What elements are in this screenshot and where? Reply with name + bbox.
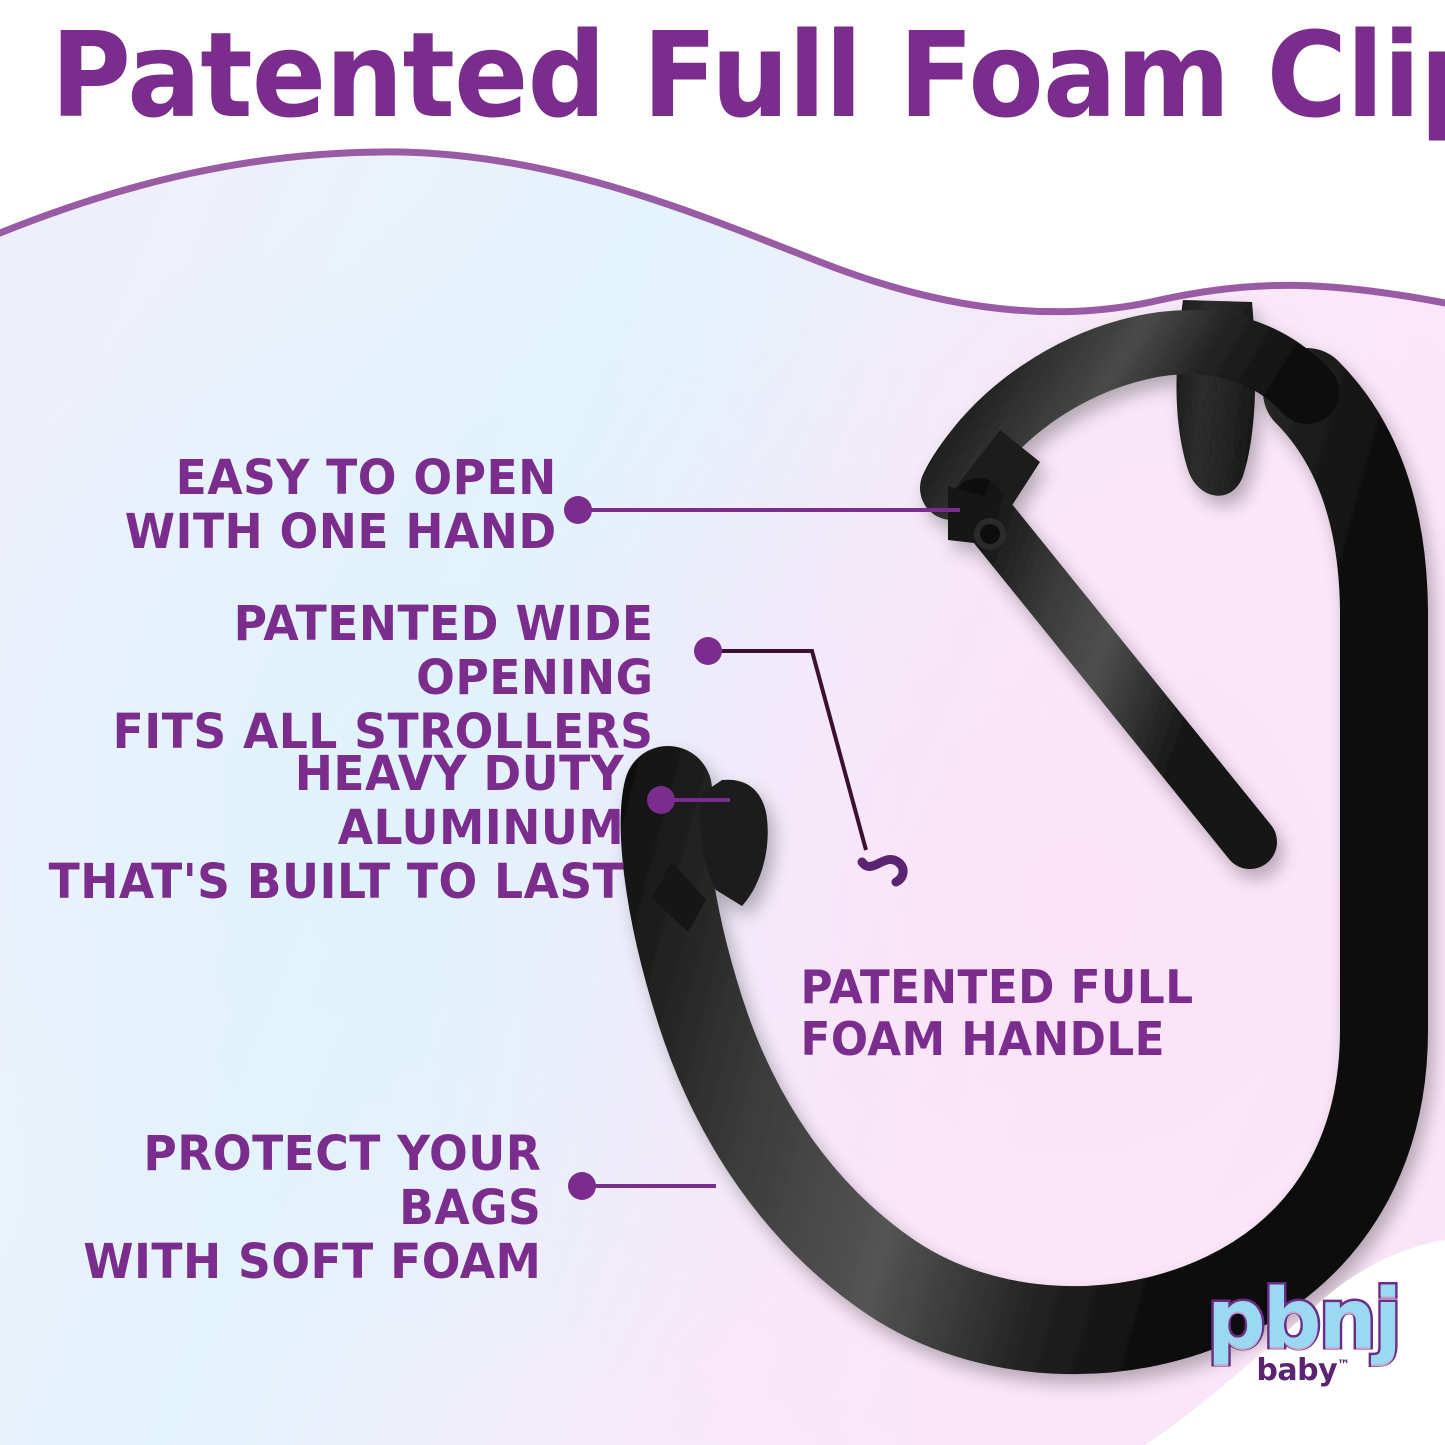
brand-logo: pbnj baby™: [1183, 1283, 1423, 1423]
leader-protect-bags: [568, 1172, 716, 1200]
callout-easy-to-open: EASY TO OPEN WITH ONE HAND: [53, 452, 557, 560]
logo-wordmark-pbnj: pbnj: [1183, 1283, 1423, 1357]
leader-heavy-duty: [647, 786, 730, 814]
callout-heavy-duty: HEAVY DUTY ALUMINUM THAT'S BUILT TO LAST: [26, 748, 625, 909]
leader-dot-heavy-duty: [647, 786, 675, 814]
leader-squiggle-wide-opening: [862, 859, 903, 882]
callout-foam-handle: PATENTED FULL FOAM HANDLE: [801, 962, 1200, 1065]
leader-dot-wide-opening: [694, 637, 722, 665]
trademark-symbol: ™: [1337, 1358, 1350, 1373]
leader-easy-to-open: [564, 496, 960, 524]
leader-dot-easy-to-open: [564, 496, 592, 524]
leader-wide-opening: [694, 637, 903, 882]
callout-wide-opening: PATENTED WIDE OPENING FITS ALL STROLLERS: [27, 598, 654, 759]
infographic-canvas: Patented Full Foam Clip: [0, 0, 1445, 1445]
callout-protect-bags: PROTECT YOUR BAGS WITH SOFT FOAM: [24, 1128, 542, 1289]
leader-dot-protect-bags: [568, 1172, 596, 1200]
logo-sub-word: baby: [1256, 1353, 1337, 1388]
